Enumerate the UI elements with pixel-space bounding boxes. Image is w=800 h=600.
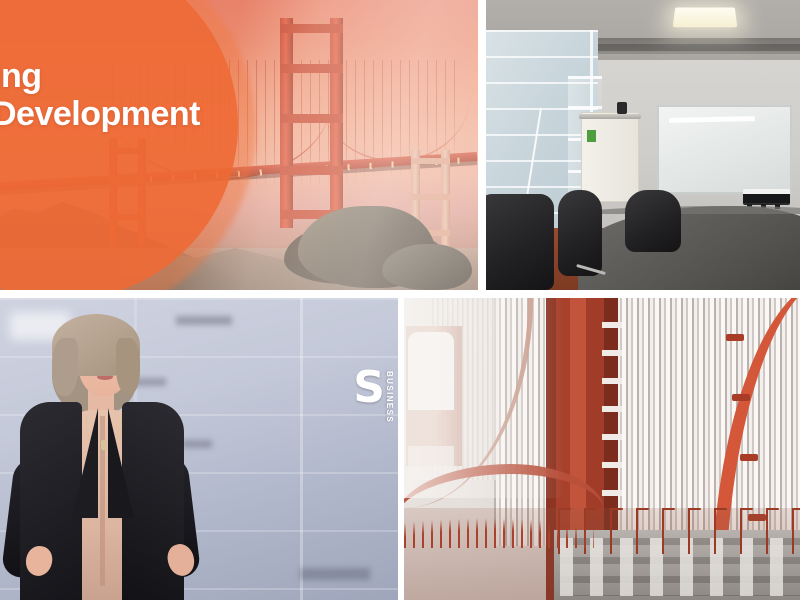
bridge-arch-railing [404, 508, 594, 548]
office-chair-3 [625, 190, 681, 252]
projector-icon [743, 189, 790, 205]
brand-logo-word: BUSINESS [385, 371, 394, 423]
brand-logo-mark: S [353, 370, 383, 406]
tile-presenter-infographic[interactable]: S BUSINESS [0, 298, 398, 600]
photo-collage: ing Development [0, 0, 800, 600]
ceiling-beam-secondary [586, 44, 800, 51]
presenter-hair-side-left [52, 338, 78, 396]
tile-bridge-tower-closeup[interactable] [404, 298, 800, 600]
overlay-title-line-1: ing [0, 57, 41, 95]
studio-shadow-4 [300, 568, 370, 580]
studio-shadow-1 [176, 316, 232, 325]
flipchart-icon [581, 112, 639, 202]
brand-logo: S BUSINESS [353, 370, 394, 423]
fog-overlay [404, 298, 564, 498]
office-chair-2 [558, 190, 602, 276]
presenter-pendant [101, 440, 106, 450]
whiteboard-icon [657, 105, 792, 194]
camera-device-icon [617, 102, 627, 114]
tower-step-notches [602, 298, 622, 514]
studio-mullion-right [300, 298, 303, 600]
overlay-title-line-2: Development [0, 96, 200, 132]
tile-overlay-title: ing Development [0, 58, 200, 132]
studio-shadow-3 [182, 440, 212, 448]
sticky-note-icon [587, 130, 596, 142]
tile-meeting-room[interactable] [486, 0, 800, 290]
tile-bridge-sunset[interactable]: ing Development [0, 0, 478, 290]
office-chair-1 [486, 194, 554, 290]
whiteboard-glare [669, 116, 755, 123]
flipchart-bar [579, 114, 641, 119]
presenter-hair-side-right [116, 338, 140, 394]
ceiling-panel-light [673, 7, 738, 27]
